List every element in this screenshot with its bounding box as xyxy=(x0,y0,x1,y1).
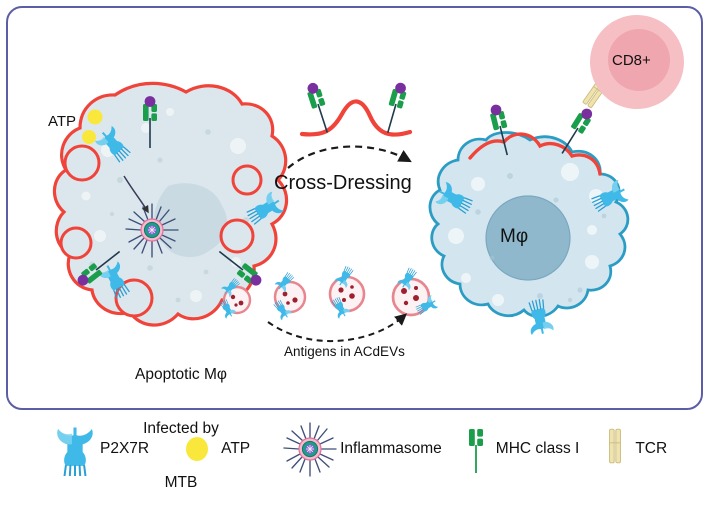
apoptotic-label-line1: Apoptotic Mφ xyxy=(86,366,276,384)
legend-label-atp: ATP xyxy=(221,440,250,458)
legend-label-mhc-class-i: MHC class I xyxy=(496,440,580,458)
mhc-class-i-icon xyxy=(464,421,488,477)
legend-item-tcr: TCR xyxy=(605,422,667,476)
antigens-arrow xyxy=(268,316,404,341)
mhc-class-i-icon xyxy=(381,81,409,135)
legend-item-mhc-class-i: MHC class I xyxy=(464,421,580,477)
recipient-macrophage xyxy=(430,133,628,317)
legend-item-p2x7r: P2X7R xyxy=(54,422,149,476)
cross-dressing-arrow xyxy=(288,147,408,168)
macrophage-nucleus-label: Mφ xyxy=(500,226,528,248)
legend-item-atp: ATP xyxy=(183,434,250,464)
cd8-label: CD8+ xyxy=(612,52,651,69)
membrane-fragment xyxy=(302,81,410,135)
legend: P2X7R ATP Inflammasome MHC xyxy=(0,416,709,482)
legend-label-tcr: TCR xyxy=(635,440,667,458)
cross-dressing-label: Cross-Dressing xyxy=(274,172,412,195)
p2x7r-icon xyxy=(54,422,96,476)
figure-root: ATP Cross-Dressing Antigens in ACdEVs Ap… xyxy=(0,0,709,482)
antigens-acdevs-label: Antigens in ACdEVs xyxy=(284,344,405,359)
atp-icon xyxy=(183,434,211,464)
tcr-icon xyxy=(605,422,625,476)
legend-label-inflammasome: Inflammasome xyxy=(340,440,442,458)
legend-label-p2x7r: P2X7R xyxy=(100,440,149,458)
inflammasome-icon xyxy=(282,421,338,477)
atp-label: ATP xyxy=(48,113,76,130)
legend-item-inflammasome: Inflammasome xyxy=(282,421,442,477)
